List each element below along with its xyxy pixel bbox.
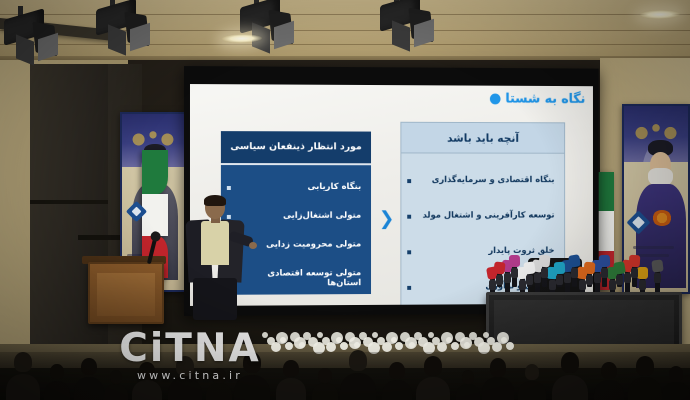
audience-member (662, 382, 690, 400)
audience-member-head (601, 362, 617, 379)
flower-icon (262, 332, 268, 338)
audience-member-head (424, 356, 442, 376)
audience-member (482, 377, 514, 400)
audience-member (6, 374, 40, 400)
list-item: توسعه کارآفرینی و اشتغال مولد (407, 212, 554, 222)
audience-member-head (462, 370, 474, 384)
flower-icon (285, 342, 293, 350)
flower-icon (299, 342, 305, 348)
audience-member-head (561, 352, 580, 373)
audience-member-head (139, 362, 155, 379)
audience-member-head (14, 352, 32, 372)
list-item-label: بنگاه کاریابی (237, 183, 361, 193)
microphone-icon (527, 271, 532, 287)
audience-member-head (490, 358, 507, 377)
audience-member (74, 377, 104, 400)
audience-member (206, 383, 232, 400)
audience-member (44, 381, 70, 400)
flower-icon (354, 342, 360, 348)
microphone-icon (557, 271, 562, 287)
flower-icon (340, 342, 348, 350)
audience-member-head (81, 358, 97, 375)
emblem-icon (652, 210, 672, 226)
audience-member (340, 373, 376, 400)
audience-member (276, 378, 306, 400)
bullet-icon (407, 179, 411, 183)
microphone-icon (512, 264, 517, 287)
audience-member-head (212, 368, 226, 383)
audience-member-head (243, 352, 262, 373)
microphone-icon (542, 264, 547, 287)
right-panel-heading: آنچه باید باشد (401, 123, 564, 154)
bullet-icon (227, 186, 231, 190)
list-item: بنگاه کاریابی (227, 183, 361, 193)
slide-title-text: نگاه به شستا (505, 92, 585, 107)
left-panel-heading: مورد انتظار ذینفعان سیاسی (221, 131, 371, 165)
slide-title-bullet-icon (490, 94, 501, 105)
audience-member (312, 383, 338, 400)
audience-member-head (283, 360, 299, 377)
wall-shelf (30, 200, 108, 204)
audience-member (104, 384, 128, 400)
microphone-icon (602, 264, 607, 287)
microphone-icon (497, 271, 502, 287)
flower-icon (395, 342, 403, 350)
audience-member (382, 380, 412, 400)
audience-member-head (349, 350, 368, 371)
list-item-label: متولی اشتغال‌زایی (237, 211, 361, 221)
list-item-label: متولی توسعه اقتصادی استان‌ها (237, 269, 361, 289)
audience-member (456, 384, 480, 400)
audience-member-head (636, 356, 654, 376)
audience-member-head (389, 362, 405, 379)
audience-member (594, 380, 624, 400)
podium (88, 262, 164, 324)
audience-member (132, 380, 162, 400)
microphone-cluster (486, 248, 678, 296)
audience-member (168, 377, 202, 400)
bullet-icon (407, 286, 411, 290)
chevron-left-icon: ❯ (379, 210, 393, 228)
presenter-person (179, 196, 255, 318)
flower-icon (446, 337, 452, 343)
audience-member-head (318, 368, 332, 383)
flower-icon (451, 342, 459, 350)
microphone-icon (617, 271, 622, 287)
audience-member-head (110, 370, 122, 384)
screenshot-root: نگاه به شستا مورد انتظار ذینفعان سیاسی ب… (0, 0, 690, 400)
audience-member-head (669, 366, 684, 382)
conference-room: نگاه به شستا مورد انتظار ذینفعان سیاسی ب… (0, 0, 690, 400)
audience-member-head (525, 364, 540, 380)
audience-member (518, 381, 546, 400)
bullet-icon (407, 250, 411, 254)
audience-member-head (176, 356, 194, 376)
microphone-icon (587, 271, 592, 287)
list-item: بنگاه اقتصادی و سرمایه‌گذاری (407, 176, 554, 186)
bullet-icon (407, 215, 411, 219)
audience-member (416, 377, 450, 400)
audience-member-head (50, 364, 64, 379)
slide-title: نگاه به شستا (490, 92, 585, 107)
microphone-icon (632, 264, 637, 287)
microphone-icon (572, 264, 577, 287)
list-item-label: توسعه کارآفرینی و اشتغال مولد (417, 212, 555, 222)
list-item-label: بنگاه اقتصادی و سرمایه‌گذاری (417, 176, 555, 186)
audience-member (628, 377, 662, 400)
flower-icon (506, 342, 514, 350)
